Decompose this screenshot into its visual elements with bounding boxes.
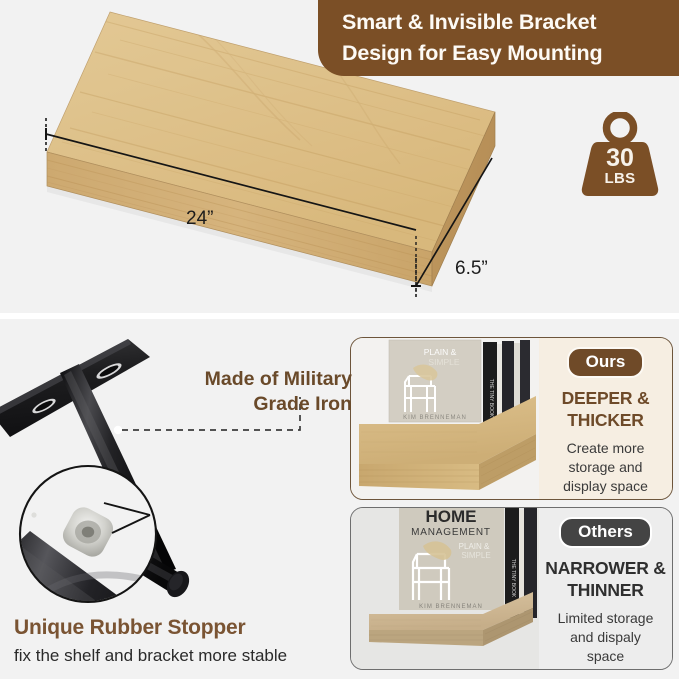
stopper-subtitle: fix the shelf and bracket more stable bbox=[14, 643, 287, 668]
others-body: Limited storage and dispaly space bbox=[545, 609, 666, 666]
top-section: Smart & Invisible Bracket Design for Eas… bbox=[0, 0, 679, 315]
comparison-panel-ours: PLAIN & SIMPLE KIM BRENNEMAN bbox=[350, 337, 673, 500]
ours-book-author: KIM BRENNEMAN bbox=[403, 415, 467, 421]
callout-dot bbox=[114, 426, 122, 434]
others-book-title-top: HOME bbox=[426, 508, 477, 526]
svg-text:THE TINY BOOK: THE TINY BOOK bbox=[488, 379, 494, 418]
dimension-depth-label: 6.5” bbox=[455, 258, 488, 280]
others-pill: Others bbox=[559, 517, 652, 548]
banner-line-2: Design for Easy Mounting bbox=[342, 38, 665, 69]
title-banner: Smart & Invisible Bracket Design for Eas… bbox=[318, 0, 679, 76]
svg-text:THE TINY BOOK: THE TINY BOOK bbox=[510, 559, 516, 598]
others-book-title-sub: MANAGEMENT bbox=[411, 527, 491, 538]
others-text-side: Others NARROWER & THINNER Limited storag… bbox=[539, 508, 672, 669]
military-line-1: Made of Military bbox=[152, 367, 352, 392]
dimension-length-label: 24” bbox=[186, 208, 213, 230]
military-line-2: Grade Iron bbox=[152, 392, 352, 417]
stopper-title: Unique Rubber Stopper bbox=[14, 614, 287, 641]
others-book-title-1: PLAIN & bbox=[459, 542, 490, 551]
banner-line-1: Smart & Invisible Bracket bbox=[342, 7, 665, 38]
ours-book-title-1: PLAIN & bbox=[424, 347, 457, 357]
ours-photo: PLAIN & SIMPLE KIM BRENNEMAN bbox=[351, 338, 539, 499]
others-photo: HOME MANAGEMENT PLAIN & SIMPLE KIM BRENN… bbox=[351, 508, 539, 669]
others-book-author: KIM BRENNEMAN bbox=[419, 604, 483, 610]
others-book-title-2: SIMPLE bbox=[461, 551, 490, 560]
others-heading: NARROWER & THINNER bbox=[545, 557, 666, 601]
ours-pill: Ours bbox=[567, 347, 645, 378]
others-heading-line-2: THINNER bbox=[545, 579, 666, 601]
ours-heading-line-1: DEEPER & bbox=[545, 387, 666, 409]
infographic-page: Smart & Invisible Bracket Design for Eas… bbox=[0, 0, 679, 679]
comparison-panel-others: HOME MANAGEMENT PLAIN & SIMPLE KIM BRENN… bbox=[350, 507, 673, 670]
ours-book-title-2: SIMPLE bbox=[428, 357, 460, 367]
bracket-illustration bbox=[0, 319, 350, 619]
others-heading-line-1: NARROWER & bbox=[545, 557, 666, 579]
ours-body: Create more storage and display space bbox=[545, 439, 666, 496]
weight-icon bbox=[578, 112, 662, 198]
ours-heading-line-2: THICKER bbox=[545, 409, 666, 431]
section-divider bbox=[0, 313, 679, 319]
ours-heading: DEEPER & THICKER bbox=[545, 387, 666, 431]
military-grade-callout: Made of Military Grade Iron bbox=[152, 367, 352, 417]
ours-text-side: Ours DEEPER & THICKER Create more storag… bbox=[539, 338, 672, 499]
rubber-stopper-caption: Unique Rubber Stopper fix the shelf and … bbox=[14, 614, 287, 668]
weight-capacity-badge: 30 LBS bbox=[578, 112, 662, 198]
